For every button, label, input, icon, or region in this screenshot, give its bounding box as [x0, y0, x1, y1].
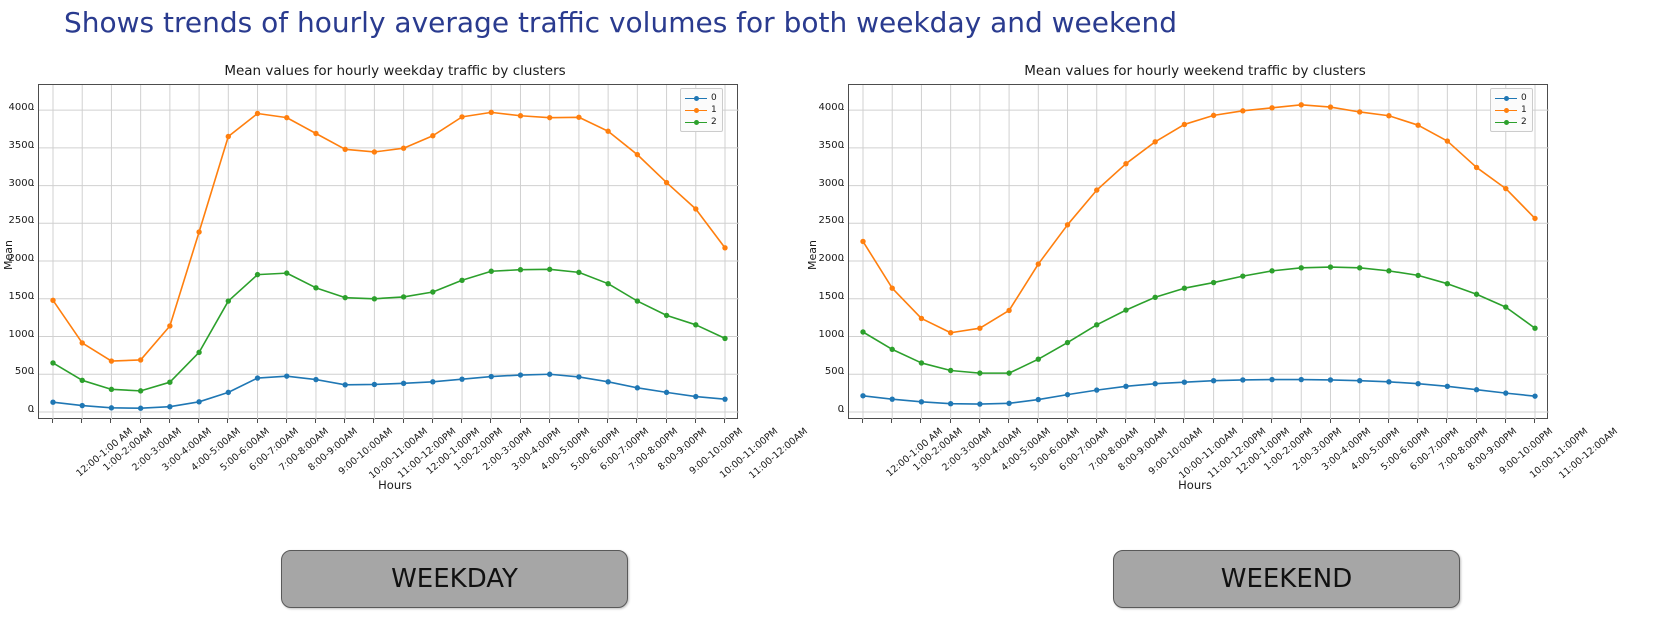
y-tick-label: 0 [806, 404, 844, 415]
x-tick-mark [110, 419, 111, 423]
x-tick-mark [607, 419, 608, 423]
weekday-legend[interactable]: 012 [680, 88, 723, 132]
page-title: Shows trends of hourly average traffic v… [64, 6, 1177, 39]
y-tick-label: 3000 [806, 178, 844, 189]
x-tick-mark [81, 419, 82, 423]
weekday-axes [38, 84, 738, 419]
y-tick-label: 1000 [806, 329, 844, 340]
legend-item[interactable]: 2 [1495, 116, 1527, 128]
x-tick-mark [724, 419, 725, 423]
weekday-plot-area: Mean 05001000150020002500300035004000 12… [0, 84, 790, 429]
legend-item[interactable]: 0 [1495, 92, 1527, 104]
x-tick-mark [1330, 419, 1331, 423]
y-tick-mark [30, 411, 34, 412]
y-tick-label: 3000 [6, 178, 34, 189]
x-tick-mark [1359, 419, 1360, 423]
y-tick-mark [840, 260, 844, 261]
x-tick-mark [862, 419, 863, 423]
y-tick-label: 4000 [806, 102, 844, 113]
legend-item[interactable]: 0 [685, 92, 717, 104]
x-tick-mark [432, 419, 433, 423]
x-tick-mark [140, 419, 141, 423]
x-tick-mark [169, 419, 170, 423]
y-tick-label: 0 [6, 404, 34, 415]
legend-marker-icon [1495, 117, 1517, 127]
y-tick-mark [840, 411, 844, 412]
x-tick-mark [520, 419, 521, 423]
legend-label: 2 [1521, 116, 1527, 128]
y-tick-mark [840, 147, 844, 148]
x-tick-mark [1242, 419, 1243, 423]
y-tick-mark [30, 222, 34, 223]
weekday-line-chart [39, 85, 739, 420]
y-tick-mark [30, 109, 34, 110]
legend-marker-icon [1495, 105, 1517, 115]
x-tick-mark [1271, 419, 1272, 423]
x-tick-mark [1388, 419, 1389, 423]
x-tick-mark [1476, 419, 1477, 423]
weekend-y-ticks: 05001000150020002500300035004000 [800, 84, 844, 419]
x-tick-mark [920, 419, 921, 423]
x-tick-mark [1183, 419, 1184, 423]
y-tick-label: 2500 [806, 215, 844, 226]
y-tick-label: 2000 [6, 253, 34, 264]
x-tick-mark [695, 419, 696, 423]
weekday-x-axis-label: Hours [0, 478, 790, 492]
x-tick-mark [461, 419, 462, 423]
x-tick-mark [373, 419, 374, 423]
y-tick-label: 2000 [806, 253, 844, 264]
legend-marker-icon [685, 117, 707, 127]
x-tick-mark [52, 419, 53, 423]
y-tick-label: 3500 [806, 140, 844, 151]
legend-item[interactable]: 2 [685, 116, 717, 128]
legend-label: 1 [1521, 104, 1527, 116]
y-tick-label: 500 [6, 366, 34, 377]
x-tick-mark [1417, 419, 1418, 423]
legend-item[interactable]: 1 [1495, 104, 1527, 116]
weekday-chart-title: Mean values for hourly weekday traffic b… [0, 63, 790, 79]
x-tick-mark [315, 419, 316, 423]
y-tick-mark [840, 222, 844, 223]
x-tick-mark [666, 419, 667, 423]
x-tick-mark [1505, 419, 1506, 423]
x-tick-mark [344, 419, 345, 423]
weekday-y-ticks: 05001000150020002500300035004000 [0, 84, 34, 419]
x-tick-mark [227, 419, 228, 423]
y-tick-label: 500 [806, 366, 844, 377]
x-tick-mark [403, 419, 404, 423]
x-tick-mark [549, 419, 550, 423]
weekend-legend[interactable]: 012 [1490, 88, 1533, 132]
x-tick-mark [1300, 419, 1301, 423]
weekday-button[interactable]: WEEKDAY [281, 550, 628, 608]
y-tick-mark [30, 185, 34, 186]
x-tick-mark [1008, 419, 1009, 423]
weekday-chart-panel: Mean values for hourly weekday traffic b… [0, 58, 790, 498]
y-tick-label: 4000 [6, 102, 34, 113]
weekend-chart-panel: Mean values for hourly weekend traffic b… [800, 58, 1590, 498]
legend-label: 1 [711, 104, 717, 116]
x-tick-mark [1534, 419, 1535, 423]
y-tick-mark [30, 147, 34, 148]
y-tick-label: 1000 [6, 329, 34, 340]
y-tick-mark [30, 298, 34, 299]
y-tick-label: 3500 [6, 140, 34, 151]
legend-item[interactable]: 1 [685, 104, 717, 116]
y-tick-mark [30, 336, 34, 337]
weekend-plot-area: Mean 05001000150020002500300035004000 12… [800, 84, 1590, 429]
x-tick-mark [1154, 419, 1155, 423]
y-tick-mark [840, 298, 844, 299]
y-tick-label: 2500 [6, 215, 34, 226]
x-tick-mark [257, 419, 258, 423]
x-tick-mark [578, 419, 579, 423]
legend-label: 0 [711, 92, 717, 104]
weekend-x-axis-label: Hours [800, 478, 1590, 492]
x-tick-mark [1125, 419, 1126, 423]
legend-marker-icon [1495, 93, 1517, 103]
slide-canvas: Shows trends of hourly average traffic v… [0, 0, 1669, 625]
x-tick-mark [891, 419, 892, 423]
weekend-button[interactable]: WEEKEND [1113, 550, 1460, 608]
y-tick-mark [30, 373, 34, 374]
y-tick-mark [840, 373, 844, 374]
legend-label: 0 [1521, 92, 1527, 104]
x-tick-mark [1096, 419, 1097, 423]
x-tick-mark [490, 419, 491, 423]
x-tick-mark [950, 419, 951, 423]
y-tick-label: 1500 [6, 291, 34, 302]
x-tick-mark [636, 419, 637, 423]
weekend-axes [848, 84, 1548, 419]
weekend-line-chart [849, 85, 1549, 420]
legend-label: 2 [711, 116, 717, 128]
legend-marker-icon [685, 105, 707, 115]
x-tick-mark [1446, 419, 1447, 423]
y-tick-mark [840, 336, 844, 337]
weekend-chart-title: Mean values for hourly weekend traffic b… [800, 63, 1590, 79]
x-tick-mark [286, 419, 287, 423]
y-tick-label: 1500 [806, 291, 844, 302]
x-tick-mark [1037, 419, 1038, 423]
y-tick-mark [840, 185, 844, 186]
legend-marker-icon [685, 93, 707, 103]
x-tick-mark [1067, 419, 1068, 423]
x-tick-mark [198, 419, 199, 423]
x-tick-mark [1213, 419, 1214, 423]
x-tick-mark [979, 419, 980, 423]
y-tick-mark [30, 260, 34, 261]
y-tick-mark [840, 109, 844, 110]
